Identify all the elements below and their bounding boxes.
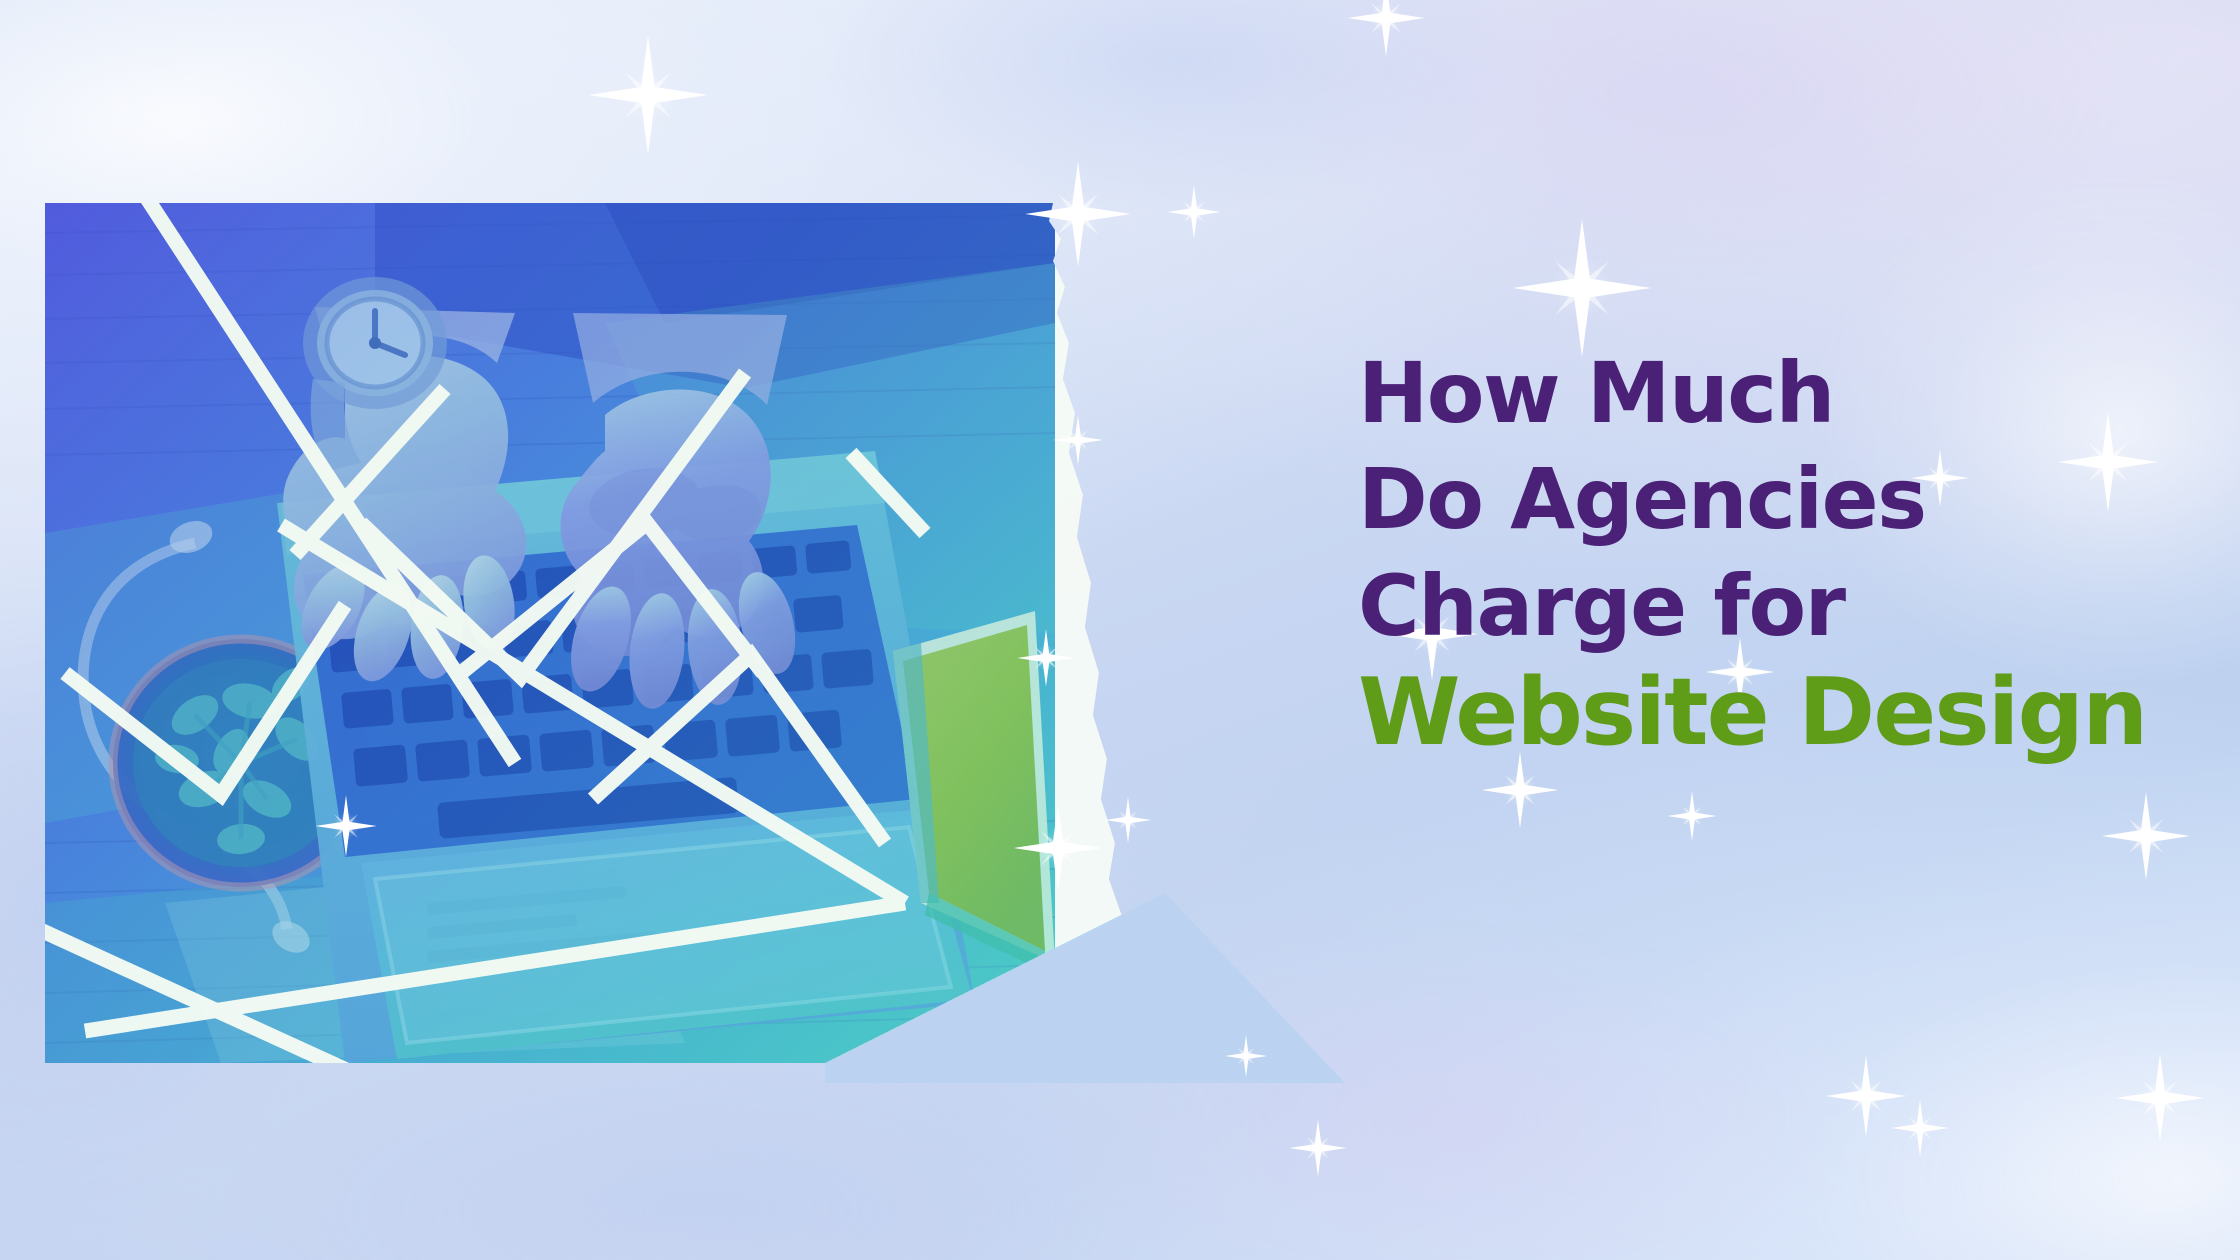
headline-line-3: Charge for (1358, 565, 2228, 647)
banner-canvas: How Much Do Agencies Charge for Website … (0, 0, 2240, 1260)
collage-bottom-wedge (45, 203, 1345, 1083)
headline-line-1: How Much (1358, 352, 2228, 434)
banner-headline: How Much Do Agencies Charge for Website … (1358, 352, 2228, 758)
headline-line-2: Do Agencies (1358, 458, 2228, 540)
headline-line-4: Website Design (1358, 667, 2228, 758)
